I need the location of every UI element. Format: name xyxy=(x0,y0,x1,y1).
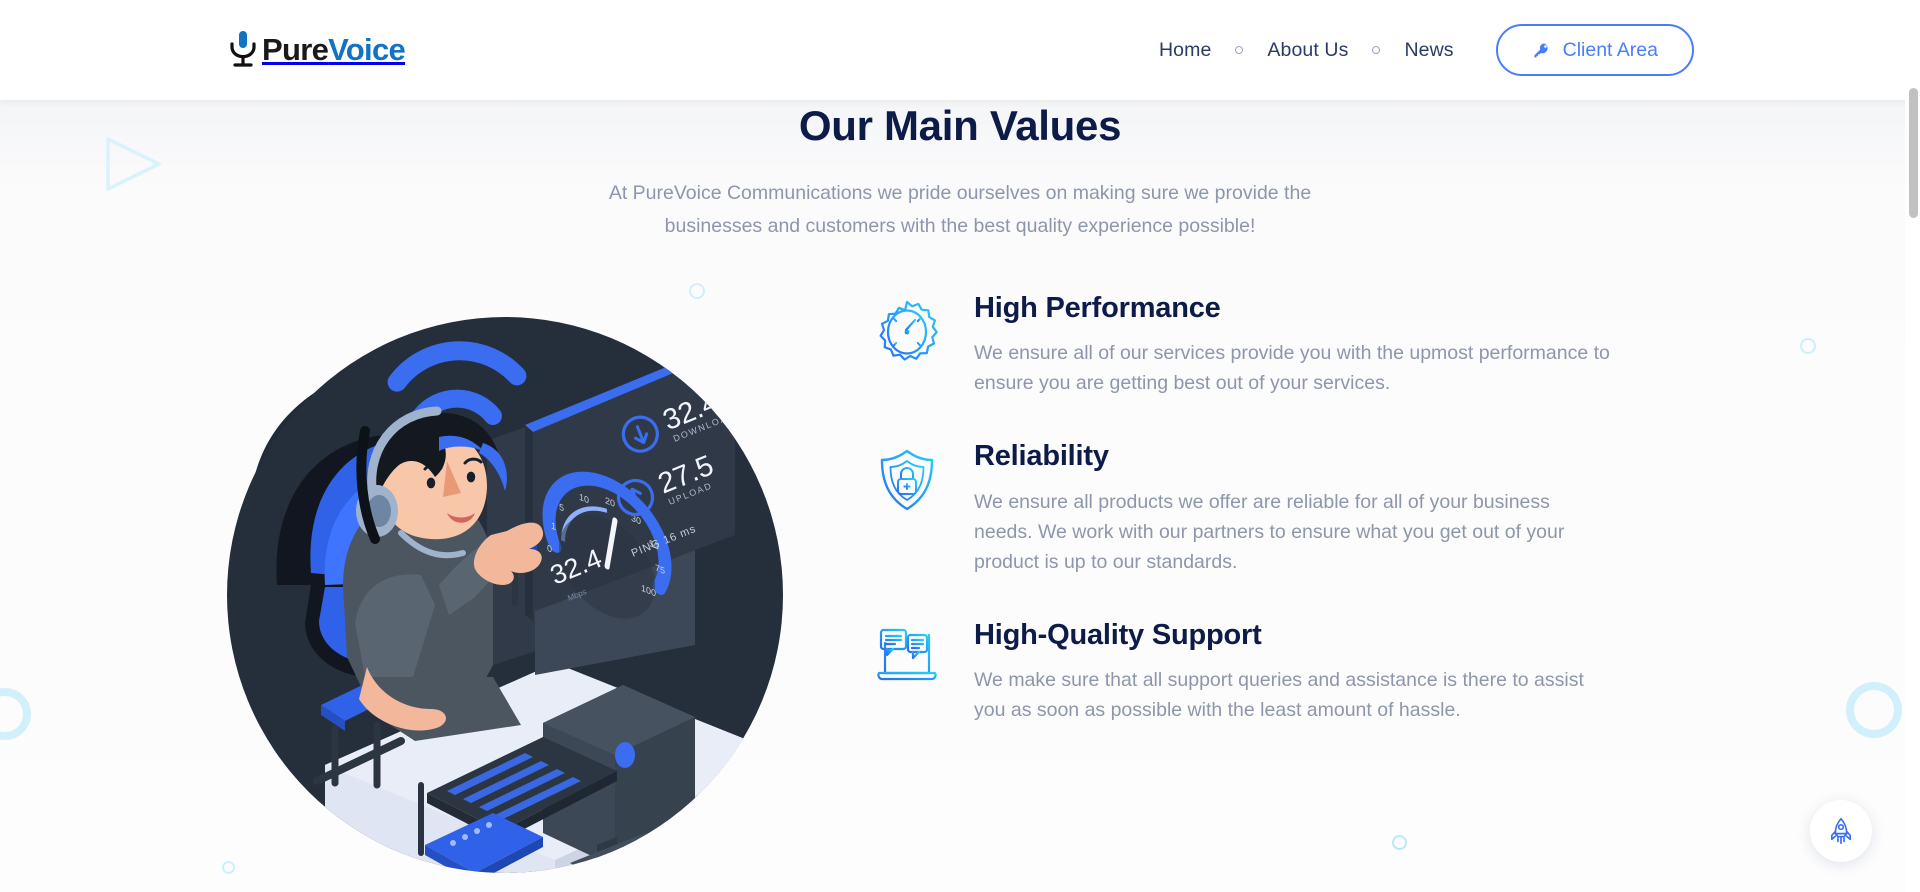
illustration-speed-test-workspace: 015 102030 5075100 32.4 Mbps 32.4 xyxy=(225,285,785,885)
page-title: Our Main Values xyxy=(0,102,1920,150)
feature-item-reliability: Reliability We ensure all products we of… xyxy=(852,438,1612,576)
decor-ring-large-right xyxy=(1846,682,1902,738)
feature-item-high-quality-support: High-Quality Support We make sure that a… xyxy=(852,617,1612,725)
page-scrollbar[interactable] xyxy=(1905,0,1920,892)
site-logo[interactable]: PureVoice xyxy=(226,26,405,72)
logo-text-pure: Pure xyxy=(262,32,328,67)
back-to-top-button[interactable] xyxy=(1810,800,1872,862)
speedometer-gear-icon xyxy=(875,300,939,364)
feature-title: High-Quality Support xyxy=(974,617,1612,653)
feature-text-wrap: High Performance We ensure all of our se… xyxy=(962,290,1612,398)
feature-description: We ensure all of our services provide yo… xyxy=(974,338,1612,398)
nav-item-about-us[interactable]: About Us xyxy=(1267,39,1348,62)
main-navigation: Home About Us News Client Area xyxy=(1159,0,1694,100)
scrollbar-thumb[interactable] xyxy=(1909,88,1918,218)
shield-lock-icon xyxy=(875,448,939,512)
feature-title: Reliability xyxy=(974,438,1612,474)
key-icon xyxy=(1532,41,1551,60)
svg-text:1: 1 xyxy=(551,521,556,533)
rocket-icon xyxy=(1827,817,1855,845)
illustration-svg: 015 102030 5075100 32.4 Mbps 32.4 xyxy=(225,285,785,885)
nav-separator-dot-icon xyxy=(1235,46,1243,54)
nav-item-home[interactable]: Home xyxy=(1159,39,1211,62)
feature-icon-wrap xyxy=(852,290,962,364)
feature-description: We make sure that all support queries an… xyxy=(974,665,1612,725)
logo-text-voice: Voice xyxy=(328,32,405,67)
nav-separator-dot-icon xyxy=(1372,46,1380,54)
decor-ring-small-top-right xyxy=(1800,338,1816,354)
feature-text-wrap: Reliability We ensure all products we of… xyxy=(962,438,1612,576)
svg-text:0: 0 xyxy=(547,543,552,555)
feature-text-wrap: High-Quality Support We make sure that a… xyxy=(962,617,1612,725)
page-root: PureVoice Home About Us News Client Area xyxy=(0,0,1920,892)
svg-text:5: 5 xyxy=(559,502,564,514)
microphone-icon xyxy=(226,29,260,69)
feature-list: High Performance We ensure all of our se… xyxy=(852,290,1612,725)
page-subtitle: At PureVoice Communications we pride our… xyxy=(580,177,1340,243)
nav-item-news[interactable]: News xyxy=(1404,39,1453,62)
feature-description: We ensure all products we offer are reli… xyxy=(974,487,1612,577)
site-header: PureVoice Home About Us News Client Area xyxy=(0,0,1920,100)
client-area-button-label: Client Area xyxy=(1563,39,1658,62)
main-content: Our Main Values At PureVoice Communicati… xyxy=(0,100,1920,892)
logo-text: PureVoice xyxy=(262,34,405,65)
feature-icon-wrap xyxy=(852,438,962,512)
decor-ring-small-mid xyxy=(1392,835,1407,850)
decor-ring-large-left xyxy=(0,688,31,740)
feature-item-high-performance: High Performance We ensure all of our se… xyxy=(852,290,1612,398)
feature-icon-wrap xyxy=(852,617,962,687)
laptop-chat-support-icon xyxy=(875,627,939,687)
client-area-button[interactable]: Client Area xyxy=(1496,24,1694,76)
feature-title: High Performance xyxy=(974,290,1612,326)
